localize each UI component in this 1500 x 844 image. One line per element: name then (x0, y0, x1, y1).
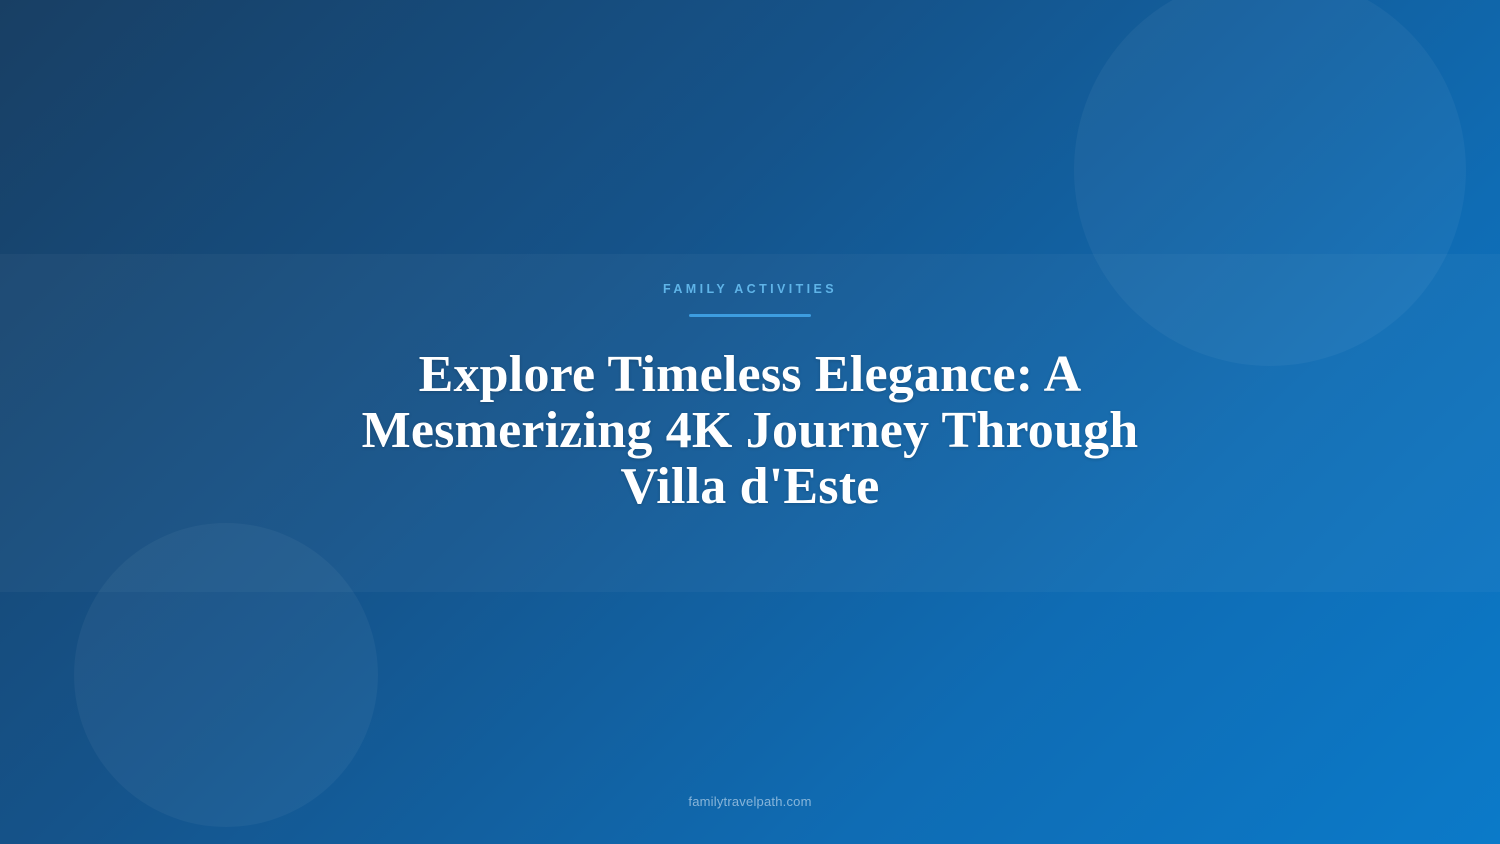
card-content: FAMILY ACTIVITIES Explore Timeless Elega… (0, 0, 1500, 844)
card-footer: familytravelpath.com (0, 793, 1500, 811)
card-text-block: FAMILY ACTIVITIES Explore Timeless Elega… (300, 283, 1200, 515)
page-title: Explore Timeless Elegance: A Mesmerizing… (300, 347, 1200, 515)
title-divider (689, 314, 811, 317)
category-label: FAMILY ACTIVITIES (300, 283, 1200, 296)
hero-card: FAMILY ACTIVITIES Explore Timeless Elega… (0, 0, 1500, 844)
site-url-label: familytravelpath.com (688, 794, 811, 809)
